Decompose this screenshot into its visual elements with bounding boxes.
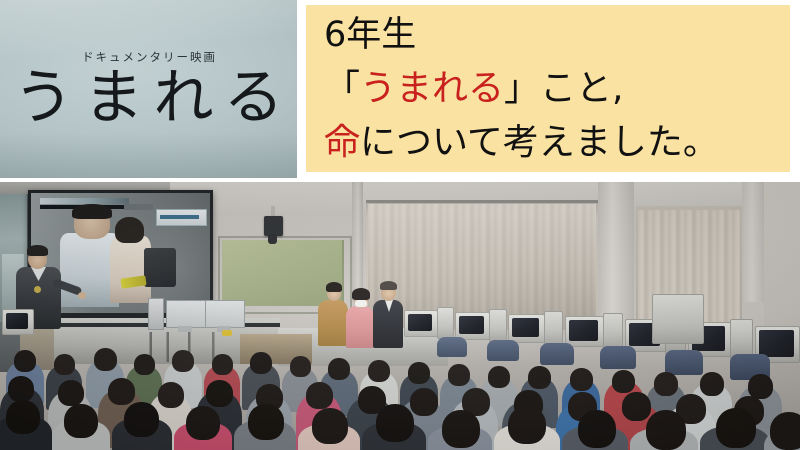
student-head <box>622 392 651 421</box>
student-head <box>654 372 678 396</box>
student-head <box>376 404 414 442</box>
student-head <box>570 368 593 391</box>
student-head <box>410 388 438 416</box>
student-head <box>578 410 616 448</box>
student-head <box>290 356 311 377</box>
caption-line-2-highlight: うまれる <box>360 68 504 109</box>
student-head <box>64 404 98 438</box>
caption-line-3-tail: について考えました。 <box>360 122 719 163</box>
student-head <box>508 406 546 444</box>
student-head <box>716 408 756 448</box>
student-head <box>206 380 233 407</box>
classroom-assembly-photo <box>0 182 800 450</box>
caption-panel: 6年生 「うまれる」こと, 命について考えました。 <box>306 5 790 172</box>
crt-screen <box>408 314 432 331</box>
student-crowd <box>0 330 800 450</box>
student-head <box>328 358 350 380</box>
documentary-title-card: ドキュメンタリー映画 うまれる <box>0 0 297 178</box>
student-head <box>14 350 36 372</box>
caption-line-3: 命について考えました。 <box>324 116 784 170</box>
student-head <box>8 376 34 402</box>
student-head <box>612 370 635 393</box>
student-head <box>448 364 470 386</box>
student-head <box>306 382 333 409</box>
student-head <box>212 354 233 375</box>
caption-line-2-tail: 」こと, <box>504 68 623 109</box>
student-head <box>134 354 155 375</box>
student-head <box>250 352 272 374</box>
slide-canvas: ドキュメンタリー映画 うまれる 6年生 「うまれる」こと, 命について考えました… <box>0 0 800 450</box>
student-head <box>54 354 75 375</box>
student-head <box>248 404 284 440</box>
student-head <box>528 366 551 389</box>
student-head <box>442 410 480 448</box>
student-head <box>108 378 135 405</box>
top-row: ドキュメンタリー映画 うまれる 6年生 「うまれる」こと, 命について考えました… <box>0 0 800 180</box>
student-head <box>408 362 430 384</box>
student-head <box>312 408 348 444</box>
student-head <box>58 380 84 406</box>
caption-lines: 6年生 「うまれる」こと, 命について考えました。 <box>324 8 784 170</box>
student-head <box>124 402 159 437</box>
documentary-title-text: うまれる <box>0 68 297 128</box>
caption-line-1-text: 6年生 <box>324 15 416 55</box>
student-head <box>186 406 220 440</box>
student-head <box>488 366 510 388</box>
student-head <box>6 400 40 434</box>
caption-line-2: 「うまれる」こと, <box>324 62 784 116</box>
student-head <box>770 412 800 450</box>
student-head <box>646 410 686 450</box>
crt-screen <box>6 313 28 329</box>
student-head <box>94 348 117 371</box>
student-head <box>158 382 184 408</box>
caption-line-1: 6年生 <box>324 8 784 62</box>
caption-line-3-highlight: 命 <box>324 122 360 163</box>
caption-line-2-open-bracket: 「 <box>324 68 360 109</box>
student-head <box>700 372 724 396</box>
student-head <box>172 350 194 372</box>
student-head <box>368 360 390 382</box>
